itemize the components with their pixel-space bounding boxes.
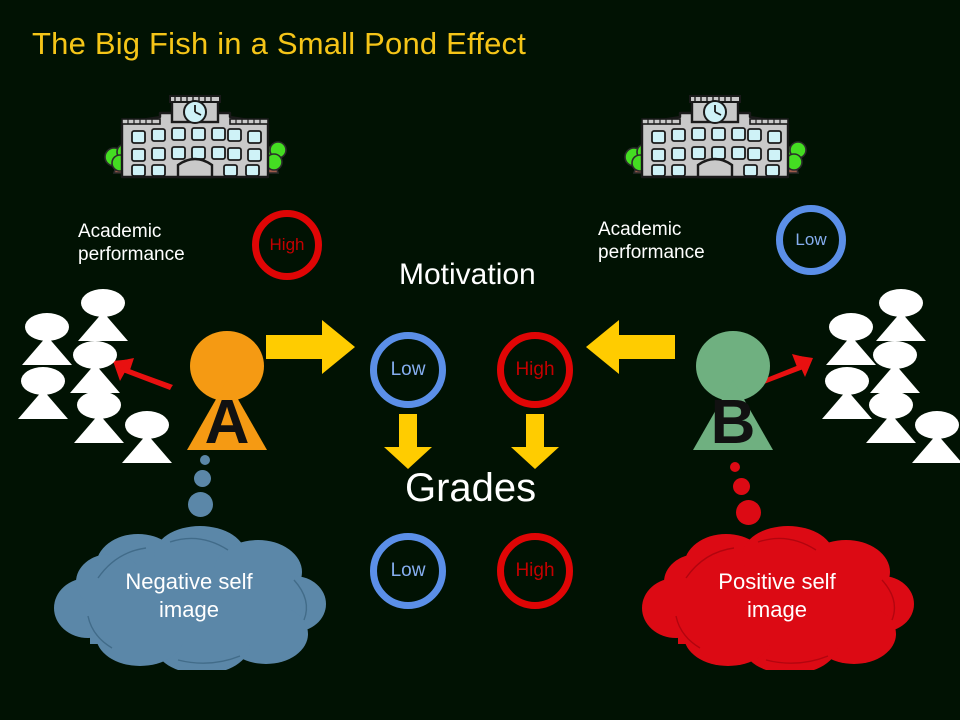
academic-performance-line1: Academic <box>78 220 185 243</box>
peer-figure <box>66 340 124 395</box>
yellow-arrow-left-icon-right <box>586 318 676 376</box>
thought-bubble-dot-small-right <box>730 462 740 472</box>
status-badge-academic-performance-right: Low <box>776 205 846 275</box>
peer-figure <box>74 288 132 343</box>
academic-performance-line2: performance <box>78 243 185 266</box>
thought-bubble-dot-small-left <box>200 455 210 465</box>
peer-figure <box>908 410 960 465</box>
academic-performance-label-right: Academic performance <box>598 218 705 264</box>
school-building-icon-left <box>100 95 290 200</box>
motivation-heading: Motivation <box>399 258 536 292</box>
student-figure-b: B <box>683 328 783 453</box>
status-badge-grades-high: High <box>497 533 573 609</box>
yellow-arrow-right-icon-left <box>266 318 356 376</box>
thought-bubble-dot-large-left <box>188 492 213 517</box>
grades-heading: Grades <box>405 466 536 511</box>
thought-bubble-dot-medium-left <box>194 470 211 487</box>
peer-figure <box>14 366 72 421</box>
academic-performance-line2: performance <box>598 241 705 264</box>
peer-figure <box>118 410 176 465</box>
page-title: The Big Fish in a Small Pond Effect <box>32 26 526 62</box>
status-badge-motivation-low: Low <box>370 332 446 408</box>
thought-cloud-negative-self-image: Negative self image <box>50 520 328 670</box>
student-letter-a: A <box>205 388 250 453</box>
status-badge-academic-performance-left: High <box>252 210 322 280</box>
student-letter-b: B <box>711 388 756 453</box>
school-building-icon-right <box>620 95 810 200</box>
slide-canvas: The Big Fish in a Small Pond Effect <box>0 0 960 720</box>
student-figure-a: A <box>177 328 277 453</box>
yellow-arrow-down-icon-right <box>510 414 560 470</box>
status-badge-motivation-high: High <box>497 332 573 408</box>
yellow-arrow-down-icon-left <box>383 414 433 470</box>
thought-bubble-dot-medium-right <box>733 478 750 495</box>
academic-performance-label-left: Academic performance <box>78 220 185 266</box>
academic-performance-line1: Academic <box>598 218 705 241</box>
status-badge-grades-low: Low <box>370 533 446 609</box>
thought-cloud-positive-self-image: Positive self image <box>638 520 916 670</box>
peer-figure <box>872 288 930 343</box>
